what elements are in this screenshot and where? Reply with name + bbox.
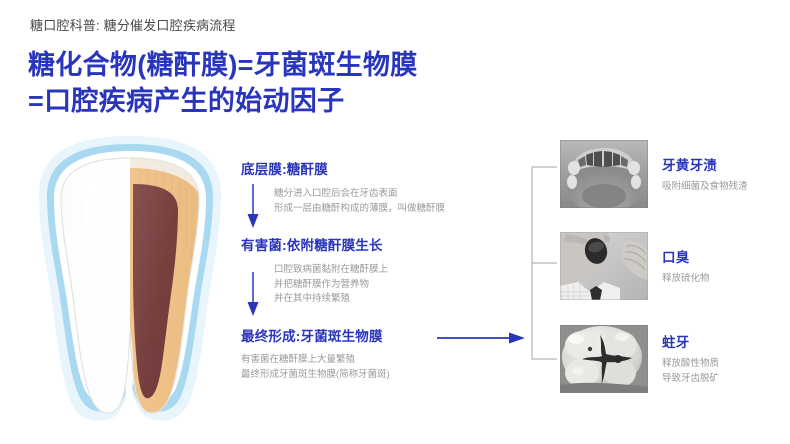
flow-step-2-body: 口腔致病菌黏附在糖酐膜上 并把糖酐膜作为营养物 并在其中持续繁殖 [274,263,388,307]
outcome-card-3-desc-line-1: 释放酸性物质 [662,357,719,372]
arrow-down-icon [246,184,260,228]
arrow-right-icon [437,331,525,345]
outcome-card-1-desc: 吸附细菌及食物残渣 [662,180,748,195]
flow-step-3: 最终形成:牙菌斑生物膜 有害菌在糖酐膜上大量繁殖 最终形成牙菌斑生物膜(简称牙菌… [241,325,390,382]
tooth-illustration [32,132,228,422]
flow-step-2-body-line-1: 口腔致病菌黏附在糖酐膜上 [274,263,388,278]
flow-step-3-body: 有害菌在糖酐膜上大量繁殖 最终形成牙菌斑生物膜(简称牙菌斑) [241,353,390,382]
flow-step-1-body-line-2: 形成一层由糖酐构成的薄膜，叫做糖酐膜 [274,202,445,217]
bracket-icon [531,166,557,360]
outcome-card-3-desc: 释放酸性物质 导致牙齿脱矿 [662,357,719,386]
flow-step-1: 底层膜:糖酐膜 糖分进入口腔后会在牙齿表面 形成一层由糖酐构成的薄膜，叫做糖酐膜 [241,158,445,216]
outcome-card-2: 口臭 释放硫化物 [560,232,710,300]
stained-teeth-photo [560,140,648,208]
flow-step-1-body: 糖分进入口腔后会在牙齿表面 形成一层由糖酐构成的薄膜，叫做糖酐膜 [274,187,445,216]
bad-breath-photo [560,232,648,300]
flow-step-2-body-line-2: 并把糖酐膜作为营养物 [274,278,388,293]
flow-step-1-body-line-1: 糖分进入口腔后会在牙齿表面 [274,187,445,202]
flow-step-3-body-line-1: 有害菌在糖酐膜上大量繁殖 [241,353,390,368]
flow-step-2-body-line-3: 并在其中持续繁殖 [274,292,388,307]
outcome-card-2-title: 口臭 [662,246,710,266]
outcome-card-1-title: 牙黄牙渍 [662,154,748,174]
outcome-card-3-title: 蛀牙 [662,331,719,351]
outcome-card-3-text: 蛀牙 释放酸性物质 导致牙齿脱矿 [662,331,719,386]
tooth-decay-photo [560,325,648,393]
flow-step-2: 有害菌:依附糖酐膜生长 口腔致病菌黏附在糖酐膜上 并把糖酐膜作为营养物 并在其中… [241,234,388,307]
infographic-page: 糖口腔科普: 糖分催发口腔疾病流程 糖化合物(糖酐膜)=牙菌斑生物膜 =口腔疾病… [0,0,790,444]
flow-step-3-title: 最终形成:牙菌斑生物膜 [241,325,390,345]
arrow-down-icon [246,272,260,316]
outcome-card-1-text: 牙黄牙渍 吸附细菌及食物残渣 [662,154,748,195]
flow-step-1-title: 底层膜:糖酐膜 [241,158,445,178]
outcome-card-2-desc: 释放硫化物 [662,272,710,287]
outcome-card-1-desc-line-1: 吸附细菌及食物残渣 [662,180,748,195]
page-title: 糖化合物(糖酐膜)=牙菌斑生物膜 =口腔疾病产生的始动因子 [28,48,418,120]
outcome-card-3-desc-line-2: 导致牙齿脱矿 [662,372,719,387]
flow-step-3-body-line-2: 最终形成牙菌斑生物膜(简称牙菌斑) [241,368,390,383]
page-subtitle: 糖口腔科普: 糖分催发口腔疾病流程 [30,15,236,34]
page-title-line-2: =口腔疾病产生的始动因子 [28,84,418,120]
flow-step-2-title: 有害菌:依附糖酐膜生长 [241,234,388,254]
outcome-card-3: 蛀牙 释放酸性物质 导致牙齿脱矿 [560,325,719,393]
outcome-card-2-desc-line-1: 释放硫化物 [662,272,710,287]
page-title-line-1: 糖化合物(糖酐膜)=牙菌斑生物膜 [28,50,418,80]
outcome-card-2-text: 口臭 释放硫化物 [662,246,710,287]
outcome-card-1: 牙黄牙渍 吸附细菌及食物残渣 [560,140,748,208]
